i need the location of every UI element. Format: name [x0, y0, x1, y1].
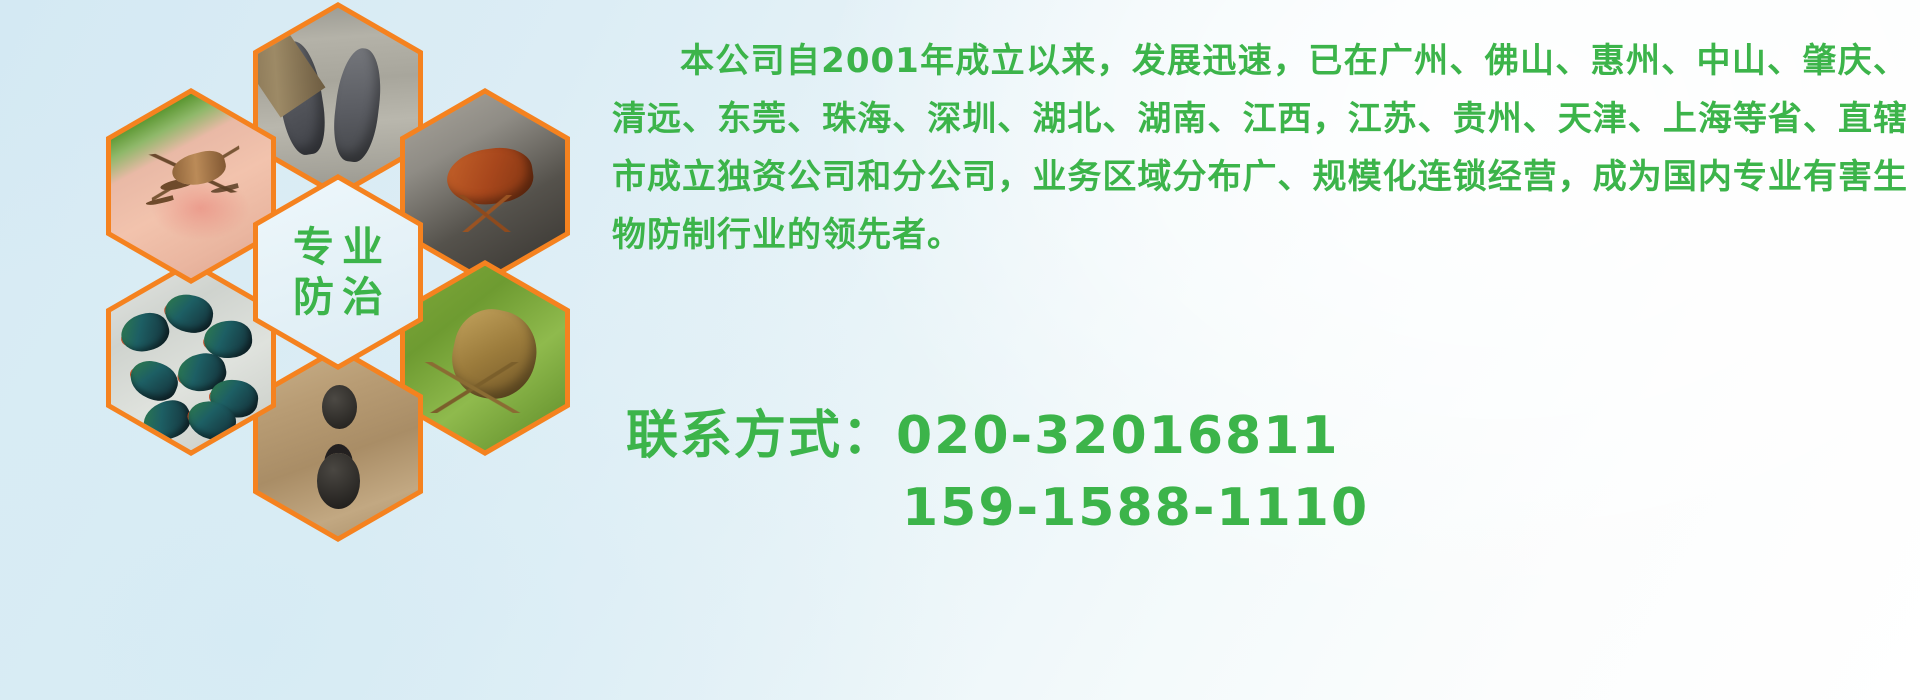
contact-mobile-line[interactable]: 159-1588-1110 [612, 472, 1908, 544]
hex-photo-ant-frame [258, 352, 418, 537]
pest-control-banner: 专业 防治 本公司自2001年成立以来，发展迅速，已在广州、佛山、惠州、中山、肇… [0, 0, 1920, 700]
company-intro: 本公司自2001年成立以来，发展迅速，已在广州、佛山、惠州、中山、肇庆、清远、东… [612, 32, 1908, 264]
flies-icon [111, 266, 271, 451]
hex-badge-center-frame [258, 180, 418, 365]
hex-photo-cockroach[interactable] [400, 88, 570, 284]
hex-badge-center [253, 174, 423, 370]
hex-photo-flies-frame [111, 266, 271, 451]
content-column: 本公司自2001年成立以来，发展迅速，已在广州、佛山、惠州、中山、肇庆、清远、东… [612, 0, 1920, 700]
hex-photo-rodents[interactable] [253, 2, 423, 198]
mosquito-icon [111, 94, 271, 279]
hex-photo-mosquito[interactable] [106, 88, 276, 284]
ant-icon [258, 352, 418, 537]
contact-landline-line[interactable]: 联系方式：020-32016811 [612, 400, 1908, 472]
fly-shape [125, 354, 183, 406]
stinkbug-icon [405, 266, 565, 451]
company-intro-paragraph: 本公司自2001年成立以来，发展迅速，已在广州、佛山、惠州、中山、肇庆、清远、东… [612, 32, 1908, 264]
hexagon-photo-cluster: 专业 防治 [80, 0, 600, 568]
hex-photo-flies[interactable] [106, 260, 276, 456]
cockroach-icon [405, 94, 565, 279]
plank-shape [258, 8, 326, 118]
contact-block: 联系方式：020-32016811 159-1588-1110 [612, 400, 1908, 544]
hex-photo-rodents-frame [258, 8, 418, 193]
hex-photo-stinkbug-frame [405, 266, 565, 451]
rodents-icon [258, 8, 418, 193]
hex-photo-mosquito-frame [111, 94, 271, 279]
hex-photo-cockroach-frame [405, 94, 565, 279]
hex-photo-stinkbug[interactable] [400, 260, 570, 456]
hex-photo-ant[interactable] [253, 346, 423, 542]
